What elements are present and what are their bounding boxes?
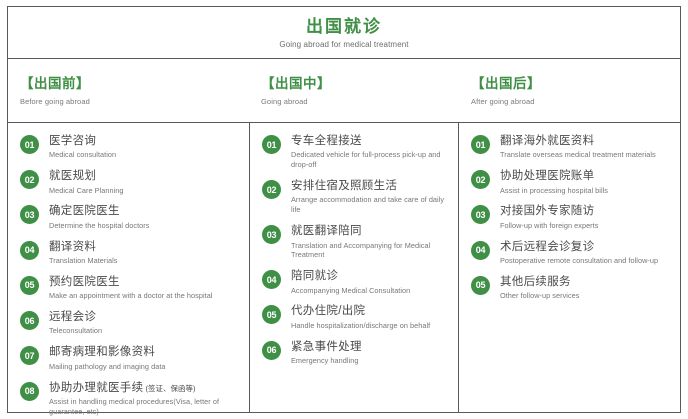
service-item-text: 就医规划Medical Care Planning (49, 169, 123, 195)
column-header-before: 【出国前】 Before going abroad (8, 59, 249, 122)
service-item: 07邮寄病理和影像资料Mailing pathology and imaging… (20, 345, 241, 371)
column-body-band: 01医学咨询Medical consultation02就医规划Medical … (8, 123, 680, 412)
service-label-cn: 协助办理就医手续 (签证、保函等) (49, 381, 241, 395)
service-item-text: 预约医院医生Make an appointment with a doctor … (49, 275, 212, 301)
service-number-badge: 05 (471, 276, 490, 295)
service-number-badge: 07 (20, 346, 39, 365)
service-label-cn: 紧急事件处理 (291, 340, 362, 354)
service-item: 06紧急事件处理Emergency handling (262, 340, 450, 366)
service-item-text: 专车全程接送Dedicated vehicle for full-process… (291, 134, 450, 170)
service-number-badge: 01 (471, 135, 490, 154)
service-number-badge: 04 (262, 270, 281, 289)
column-header-band: 【出国前】 Before going abroad 【出国中】 Going ab… (8, 59, 680, 123)
service-item: 04术后远程会诊复诊Postoperative remote consultat… (471, 240, 672, 266)
service-label-cn: 就医翻译陪同 (291, 224, 450, 238)
column-header-en: Going abroad (261, 97, 459, 106)
service-number-badge: 06 (262, 341, 281, 360)
service-number-badge: 08 (20, 382, 39, 401)
service-item: 04陪同就诊Accompanying Medical Consultation (262, 269, 450, 295)
service-number-badge: 01 (20, 135, 39, 154)
title-band: 出国就诊 Going abroad for medical treatment (8, 7, 680, 59)
service-label-cn: 邮寄病理和影像资料 (49, 345, 166, 359)
service-label-cn: 远程会诊 (49, 310, 102, 324)
service-item: 01翻译海外就医资料Translate overseas medical tre… (471, 134, 672, 160)
service-label-en: Arrange accommodation and take care of d… (291, 195, 450, 215)
service-list-before: 01医学咨询Medical consultation02就医规划Medical … (8, 123, 249, 412)
service-number-badge: 02 (262, 180, 281, 199)
service-item-text: 远程会诊Teleconsultation (49, 310, 102, 336)
service-number-badge: 04 (20, 241, 39, 260)
infographic-frame: 出国就诊 Going abroad for medical treatment … (7, 6, 681, 413)
service-item-text: 对接国外专家随访Follow-up with foreign experts (500, 204, 598, 230)
service-item: 08协助办理就医手续 (签证、保函等)Assist in handling me… (20, 381, 241, 417)
service-label-cn: 确定医院医生 (49, 204, 149, 218)
service-item: 05预约医院医生Make an appointment with a docto… (20, 275, 241, 301)
service-label-cn: 翻译海外就医资料 (500, 134, 656, 148)
column-header-cn: 【出国后】 (471, 75, 680, 93)
service-label-cn: 专车全程接送 (291, 134, 450, 148)
service-label-en: Medical consultation (49, 150, 116, 160)
service-item: 03就医翻译陪同Translation and Accompanying for… (262, 224, 450, 260)
service-number-badge: 05 (262, 305, 281, 324)
service-label-cn: 代办住院/出院 (291, 304, 430, 318)
service-number-badge: 05 (20, 276, 39, 295)
service-item-text: 协助处理医院账单Assist in processing hospital bi… (500, 169, 608, 195)
service-label-cn: 对接国外专家随访 (500, 204, 598, 218)
column-header-cn: 【出国中】 (261, 75, 459, 93)
service-label-cn-note: (签证、保函等) (143, 384, 195, 393)
service-item: 03确定医院医生Determine the hospital doctors (20, 204, 241, 230)
medical-travel-services-infographic: 出国就诊 Going abroad for medical treatment … (0, 0, 688, 419)
column-header-en: Before going abroad (20, 97, 249, 106)
service-label-en: Determine the hospital doctors (49, 221, 149, 231)
service-list-during: 01专车全程接送Dedicated vehicle for full-proce… (249, 123, 459, 412)
service-number-badge: 06 (20, 311, 39, 330)
service-item-text: 术后远程会诊复诊Postoperative remote consultatio… (500, 240, 658, 266)
service-item: 06远程会诊Teleconsultation (20, 310, 241, 336)
service-label-cn: 翻译资料 (49, 240, 118, 254)
service-item-text: 代办住院/出院Handle hospitalization/discharge … (291, 304, 430, 330)
service-item: 05代办住院/出院Handle hospitalization/discharg… (262, 304, 450, 330)
column-header-during: 【出国中】 Going abroad (249, 59, 459, 122)
service-label-en: Mailing pathology and imaging data (49, 362, 166, 372)
service-item-text: 安排住宿及照顾生活Arrange accommodation and take … (291, 179, 450, 215)
service-item-text: 其他后续服务Other follow-up services (500, 275, 579, 301)
service-label-en: Follow-up with foreign experts (500, 221, 598, 231)
page-title-en: Going abroad for medical treatment (279, 40, 408, 49)
column-header-en: After going abroad (471, 97, 680, 106)
service-label-en: Handle hospitalization/discharge on beha… (291, 321, 430, 331)
service-item-text: 确定医院医生Determine the hospital doctors (49, 204, 149, 230)
service-item: 05其他后续服务Other follow-up services (471, 275, 672, 301)
service-label-cn: 就医规划 (49, 169, 123, 183)
service-number-badge: 03 (262, 225, 281, 244)
service-label-en: Accompanying Medical Consultation (291, 286, 410, 296)
service-item-text: 邮寄病理和影像资料Mailing pathology and imaging d… (49, 345, 166, 371)
service-number-badge: 02 (20, 170, 39, 189)
service-item: 02协助处理医院账单Assist in processing hospital … (471, 169, 672, 195)
service-item: 04翻译资料Translation Materials (20, 240, 241, 266)
service-label-en: Postoperative remote consultation and fo… (500, 256, 658, 266)
service-item: 03对接国外专家随访Follow-up with foreign experts (471, 204, 672, 230)
service-label-cn: 安排住宿及照顾生活 (291, 179, 450, 193)
service-list-after: 01翻译海外就医资料Translate overseas medical tre… (459, 123, 680, 412)
service-item: 01专车全程接送Dedicated vehicle for full-proce… (262, 134, 450, 170)
service-number-badge: 04 (471, 241, 490, 260)
service-label-cn: 术后远程会诊复诊 (500, 240, 658, 254)
service-label-en: Other follow-up services (500, 291, 579, 301)
service-label-cn: 协助处理医院账单 (500, 169, 608, 183)
service-label-en: Assist in handling medical procedures(Vi… (49, 397, 241, 417)
service-label-en: Emergency handling (291, 356, 362, 366)
service-item-text: 翻译资料Translation Materials (49, 240, 118, 266)
service-label-en: Teleconsultation (49, 326, 102, 336)
service-label-en: Assist in processing hospital bills (500, 186, 608, 196)
service-item-text: 紧急事件处理Emergency handling (291, 340, 362, 366)
service-label-cn: 陪同就诊 (291, 269, 410, 283)
service-number-badge: 02 (471, 170, 490, 189)
service-item-text: 就医翻译陪同Translation and Accompanying for M… (291, 224, 450, 260)
service-item-text: 陪同就诊Accompanying Medical Consultation (291, 269, 410, 295)
column-header-after: 【出国后】 After going abroad (459, 59, 680, 122)
service-number-badge: 03 (20, 205, 39, 224)
service-item-text: 医学咨询Medical consultation (49, 134, 116, 160)
service-number-badge: 01 (262, 135, 281, 154)
service-label-en: Translate overseas medical treatment mat… (500, 150, 656, 160)
column-header-cn: 【出国前】 (20, 75, 249, 93)
service-item: 01医学咨询Medical consultation (20, 134, 241, 160)
service-label-en: Translation and Accompanying for Medical… (291, 241, 450, 261)
service-item: 02就医规划Medical Care Planning (20, 169, 241, 195)
service-label-en: Make an appointment with a doctor at the… (49, 291, 212, 301)
service-item: 02安排住宿及照顾生活Arrange accommodation and tak… (262, 179, 450, 215)
service-label-cn: 其他后续服务 (500, 275, 579, 289)
page-title-cn: 出国就诊 (306, 16, 382, 37)
service-label-en: Medical Care Planning (49, 186, 123, 196)
service-label-en: Translation Materials (49, 256, 118, 266)
service-label-cn: 预约医院医生 (49, 275, 212, 289)
service-item-text: 协助办理就医手续 (签证、保函等)Assist in handling medi… (49, 381, 241, 417)
service-number-badge: 03 (471, 205, 490, 224)
service-label-en: Dedicated vehicle for full-process pick-… (291, 150, 450, 170)
service-label-cn: 医学咨询 (49, 134, 116, 148)
service-item-text: 翻译海外就医资料Translate overseas medical treat… (500, 134, 656, 160)
